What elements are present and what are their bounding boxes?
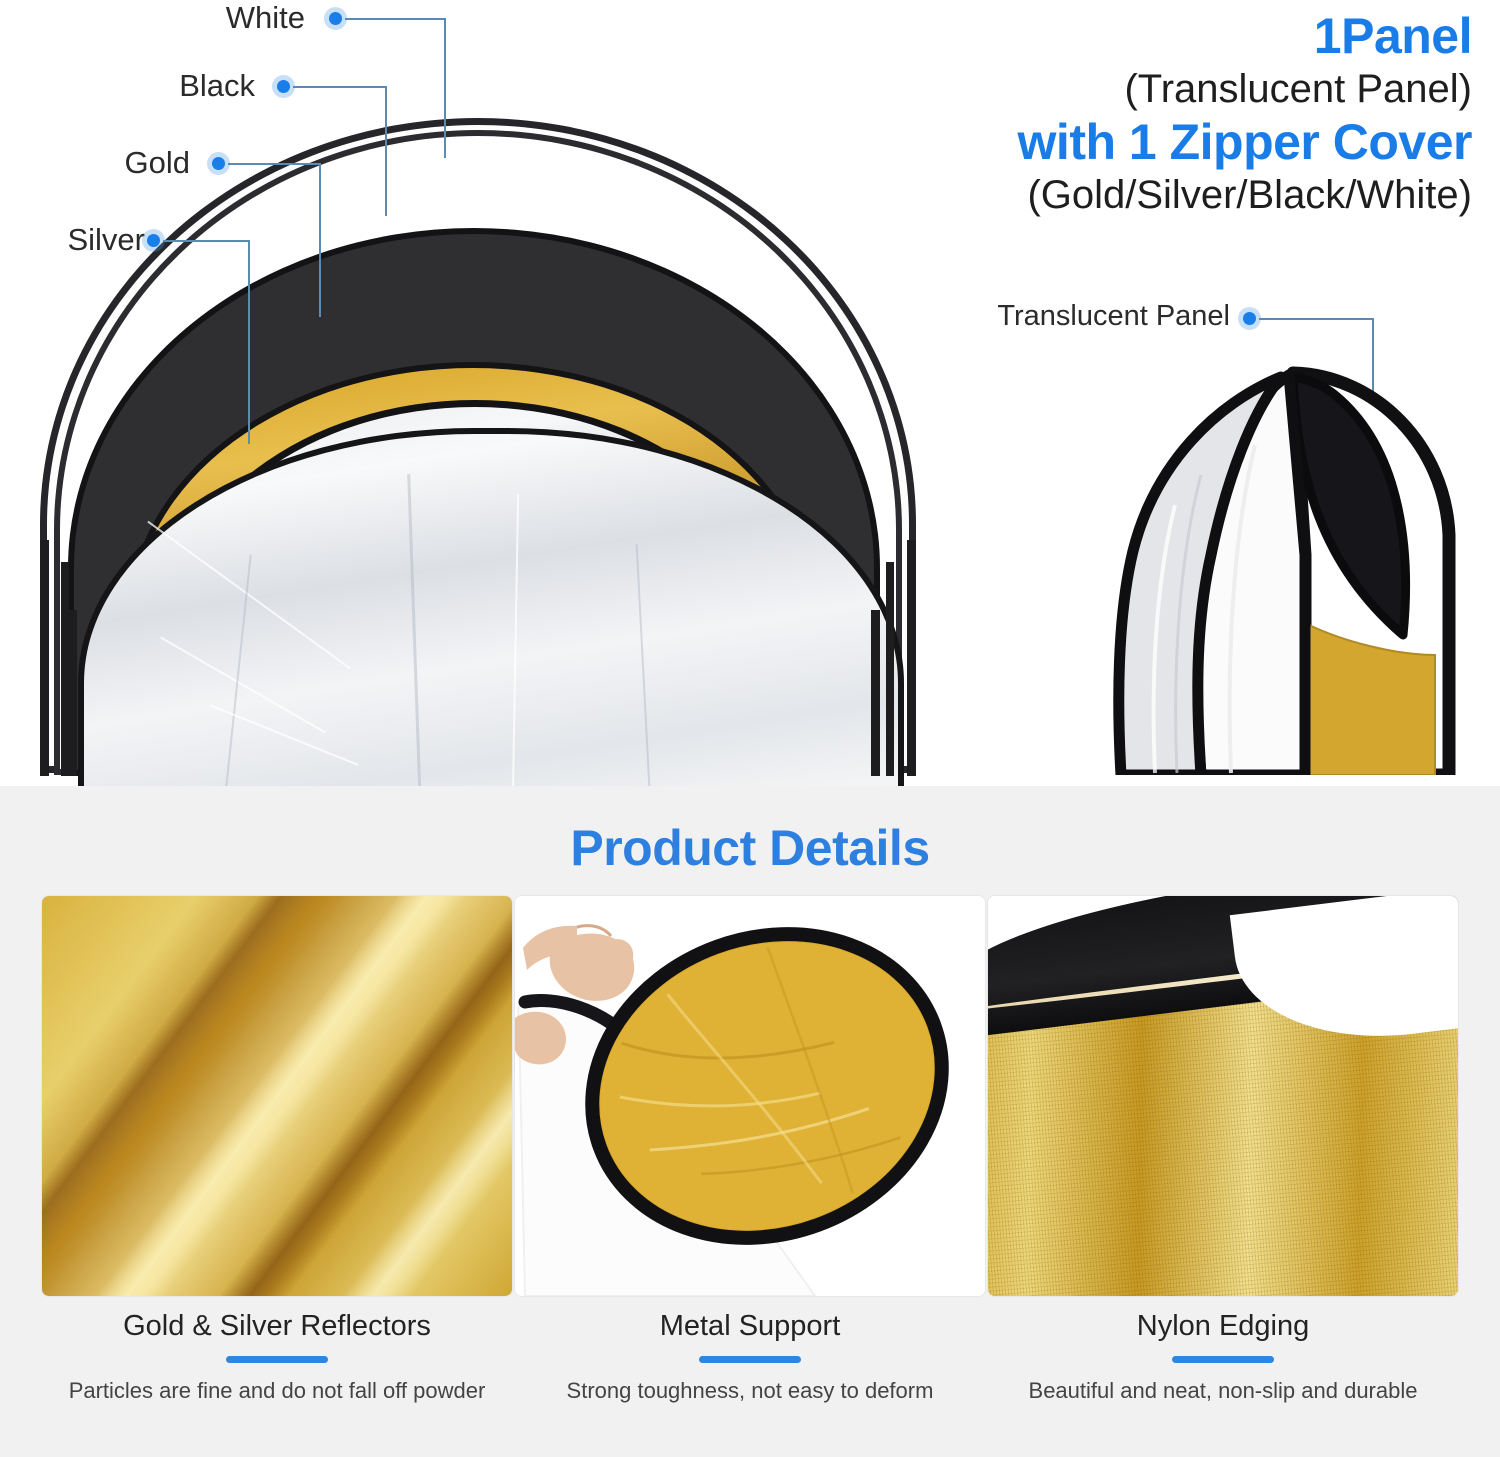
- callout-label-gold: Gold: [40, 145, 190, 181]
- callout-line-white-v: [444, 18, 446, 158]
- product-details-section: Product Details: [0, 786, 1500, 1457]
- callout-label-black: Black: [95, 68, 255, 104]
- callout-line-black-h: [293, 86, 386, 88]
- detail-card-metal-support: [515, 896, 985, 1296]
- detail-card-nylon-edging: [988, 896, 1458, 1296]
- caption-metal-support: Metal Support Strong toughness, not easy…: [515, 1310, 985, 1404]
- callout-label-white: White: [120, 0, 305, 36]
- callout-label-silver: Silver: [0, 222, 145, 258]
- hand-upper: [523, 926, 634, 1001]
- callout-line-silver-v: [248, 240, 250, 444]
- headline-line-1: 1Panel: [852, 8, 1472, 65]
- callout-dot-silver: [147, 234, 160, 247]
- headline-block: 1Panel (Translucent Panel) with 1 Zipper…: [852, 8, 1472, 220]
- callout-line-translucent-h: [1259, 318, 1373, 320]
- callout-dot-black: [277, 80, 290, 93]
- caption-title: Nylon Edging: [988, 1310, 1458, 1343]
- frame-leg-black-left: [68, 610, 77, 776]
- caption-rule: [226, 1356, 328, 1363]
- caption-subtitle: Beautiful and neat, non-slip and durable: [988, 1378, 1458, 1404]
- stacked-reflector-illustration: [28, 110, 928, 775]
- frame-leg-black-right: [871, 610, 880, 776]
- callout-line-silver-h: [163, 240, 249, 242]
- callout-line-gold-h: [228, 163, 320, 165]
- translucent-panel-svg: [1005, 355, 1475, 775]
- caption-gold-silver-reflectors: Gold & Silver Reflectors Particles are f…: [42, 1310, 512, 1404]
- frame-leg-right-inner: [886, 562, 894, 776]
- callout-line-white-h: [345, 18, 445, 20]
- translucent-panel-illustration: [1005, 355, 1475, 775]
- callout-label-translucent-panel: Translucent Panel: [830, 300, 1230, 333]
- callout-dot-gold: [212, 157, 225, 170]
- metal-support-photo: [515, 896, 985, 1296]
- product-overview-section: White Black Gold Silver 1Panel (Transluc…: [0, 0, 1500, 786]
- caption-subtitle: Strong toughness, not easy to deform: [515, 1378, 985, 1404]
- caption-rule: [699, 1356, 801, 1363]
- caption-subtitle: Particles are fine and do not fall off p…: [42, 1378, 512, 1404]
- frame-leg-right-outer: [907, 540, 916, 776]
- nylon-edging-photo: [988, 896, 1458, 1296]
- caption-nylon-edging: Nylon Edging Beautiful and neat, non-sli…: [988, 1310, 1458, 1404]
- callout-line-gold-v: [319, 163, 321, 317]
- product-details-title: Product Details: [0, 819, 1500, 877]
- headline-line-3: with 1 Zipper Cover: [852, 114, 1472, 171]
- caption-title: Gold & Silver Reflectors: [42, 1310, 512, 1343]
- frame-leg-left-outer: [40, 540, 49, 776]
- caption-rule: [1172, 1356, 1274, 1363]
- headline-line-2: (Translucent Panel): [852, 65, 1472, 114]
- gold-fabric-photo: [42, 896, 512, 1296]
- headline-line-4: (Gold/Silver/Black/White): [852, 171, 1472, 220]
- callout-dot-translucent-panel: [1243, 312, 1256, 325]
- callout-dot-white: [329, 12, 342, 25]
- caption-title: Metal Support: [515, 1310, 985, 1343]
- callout-line-black-v: [385, 86, 387, 216]
- metal-support-svg: [515, 896, 985, 1296]
- detail-card-gold-silver-reflectors: [42, 896, 512, 1296]
